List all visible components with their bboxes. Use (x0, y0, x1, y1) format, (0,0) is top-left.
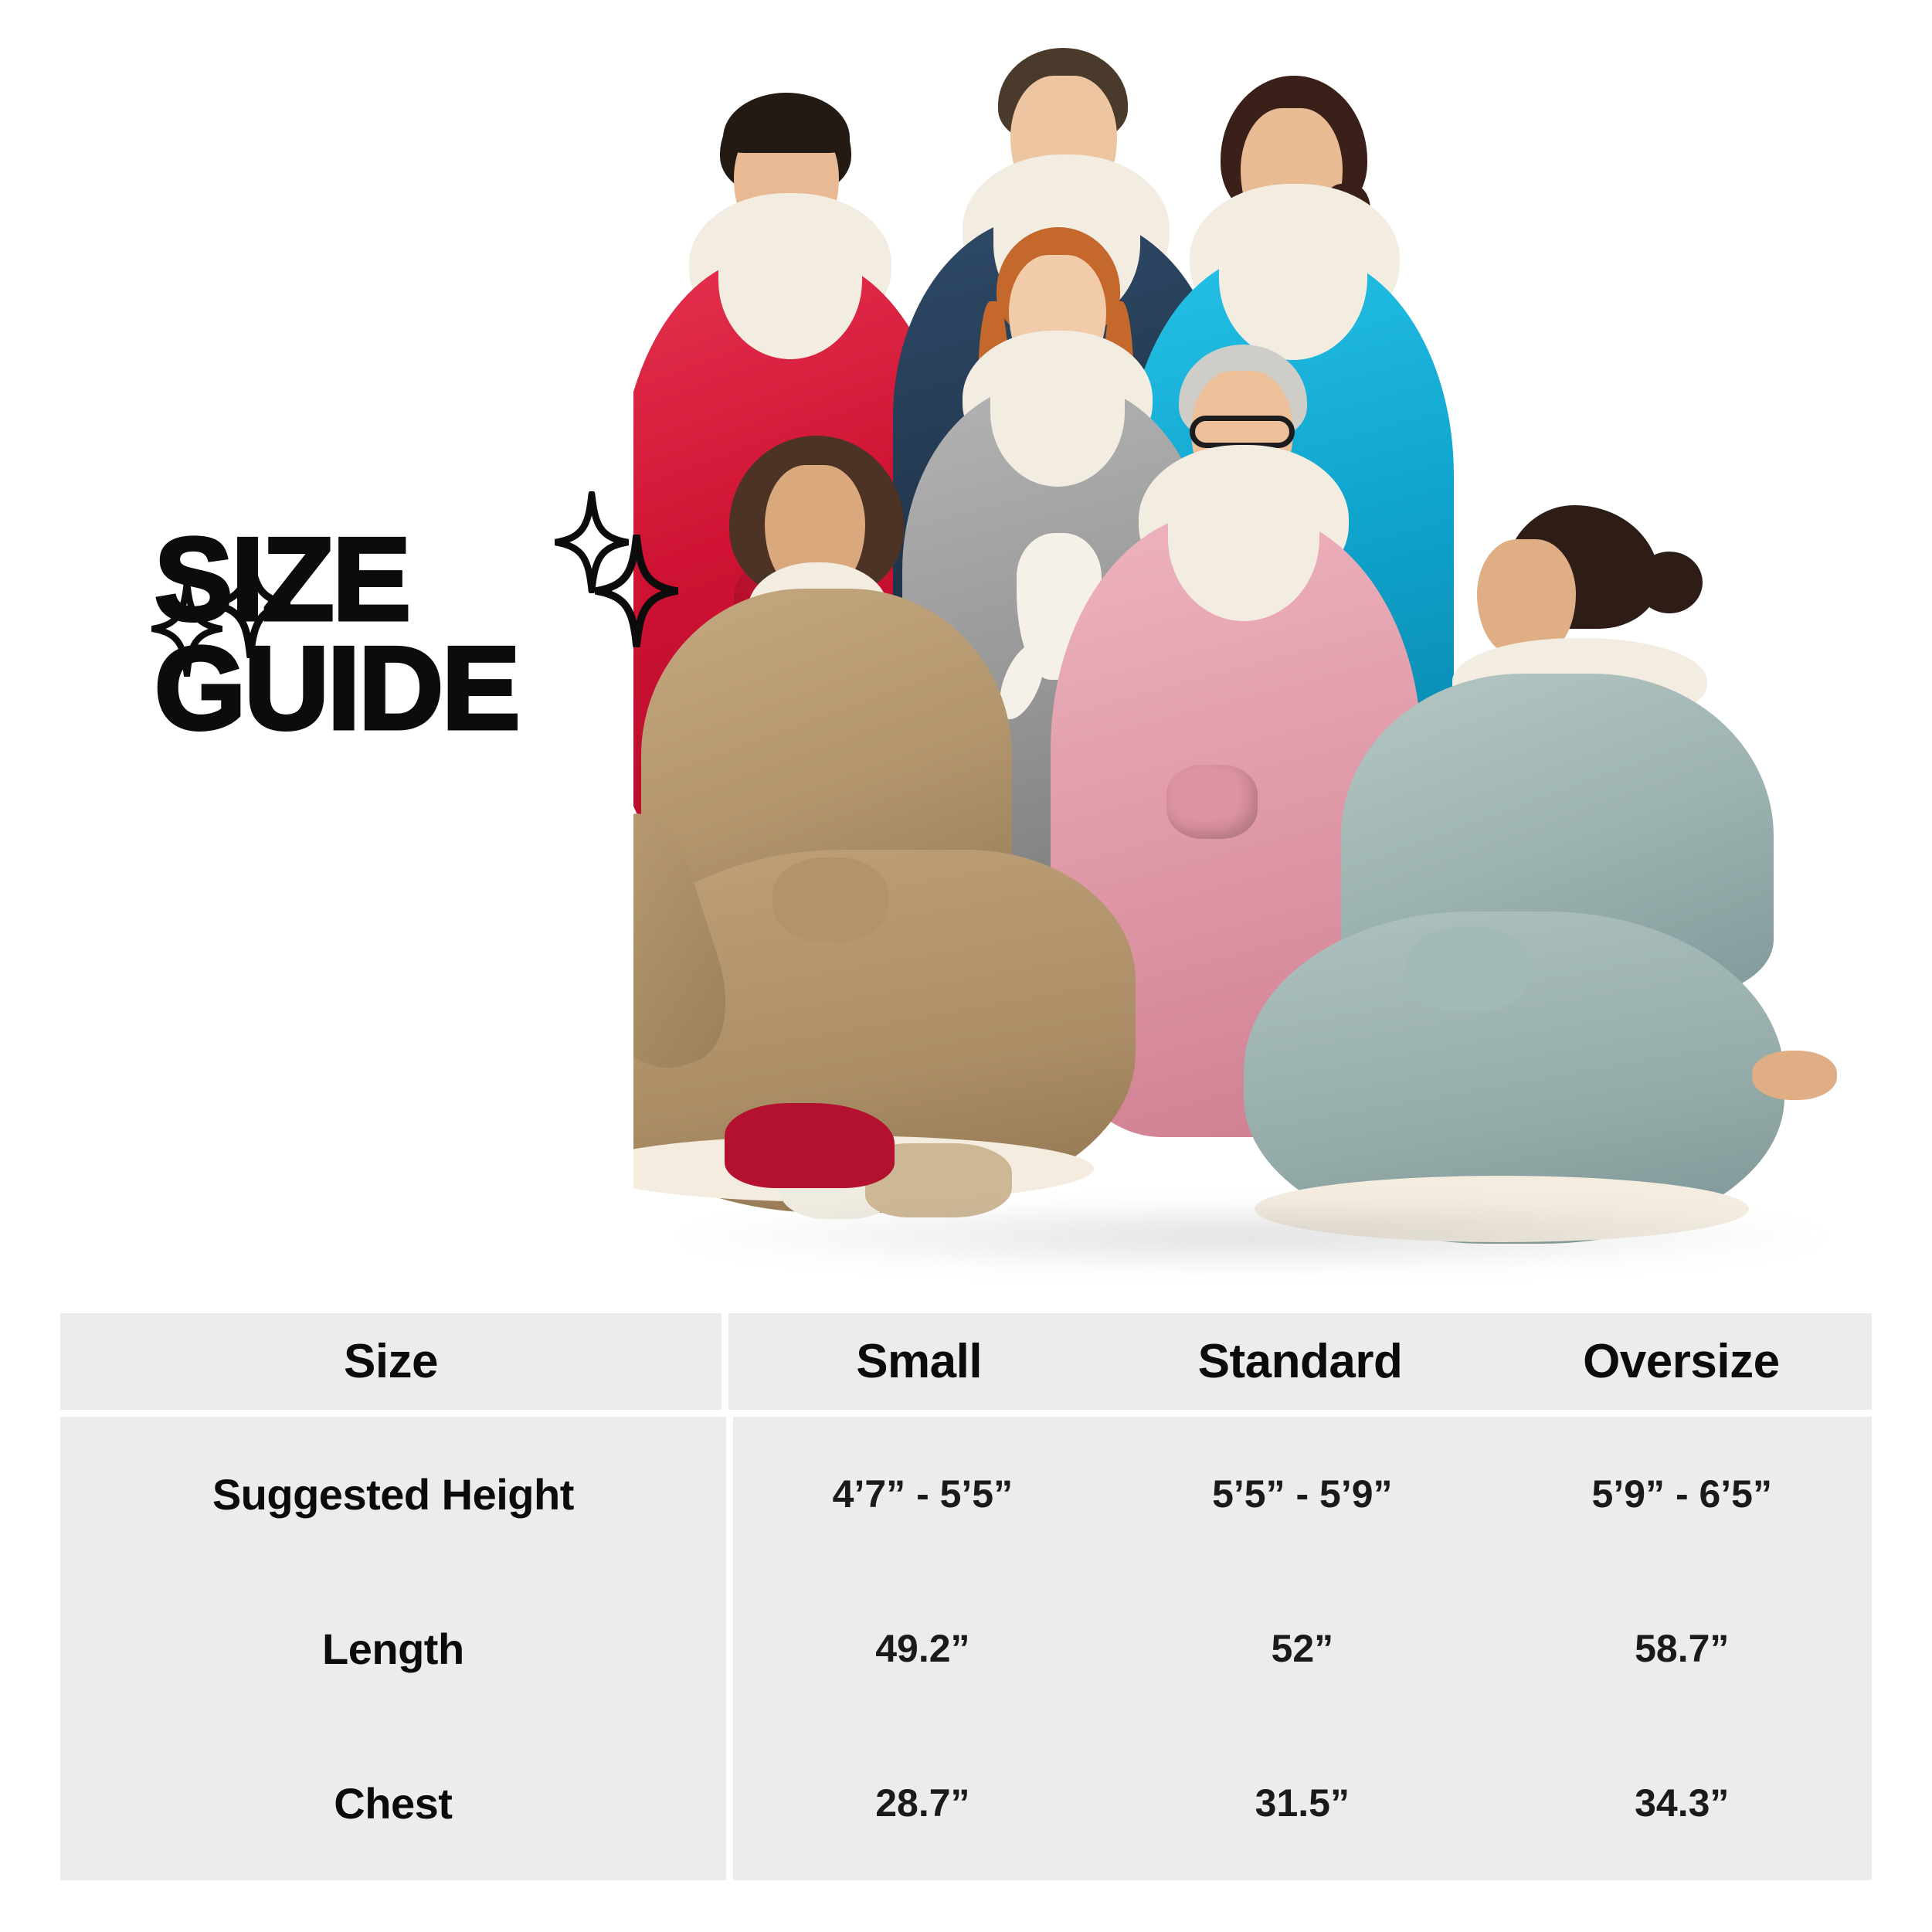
red-fabric-fold (725, 1103, 895, 1188)
cell-value: 28.7” (875, 1781, 969, 1825)
person-woman-sage (1174, 494, 1854, 1275)
cell-standard: 31.5” (1112, 1726, 1492, 1880)
row-label-suggested-height: Suggested Height (60, 1417, 733, 1571)
cell-value: 49.2” (875, 1626, 969, 1671)
size-guide-page: SIZE GUIDE Size Small Standard (0, 0, 1932, 1932)
header-label-oversize: Oversize (1583, 1334, 1780, 1389)
cell-value: 4’7” - 5’5” (833, 1472, 1013, 1516)
cell-standard: 5’5” - 5’9” (1112, 1417, 1492, 1571)
header-cell-size: Size (60, 1313, 728, 1410)
table-header-row: Size Small Standard Oversize (60, 1313, 1872, 1410)
hair-fringe (723, 93, 850, 153)
hair-bun (1636, 552, 1703, 613)
row-values-suggested-height: 4’7” - 5’5” 5’5” - 5’9” 5’9” - 6’5” (733, 1417, 1872, 1571)
group-photo (633, 31, 1900, 1313)
table-row: Chest 28.7” 31.5” 34.3” (60, 1726, 1872, 1880)
cell-value: 52” (1272, 1626, 1334, 1671)
row-label-text: Length (322, 1624, 464, 1674)
header-label-small: Small (856, 1334, 982, 1389)
sparkle-icon (595, 535, 678, 647)
row-label-chest: Chest (60, 1726, 733, 1880)
row-label-length: Length (60, 1571, 733, 1726)
cell-oversize: 34.3” (1492, 1726, 1872, 1880)
cell-value: 5’5” - 5’9” (1212, 1472, 1392, 1516)
row-label-text: Chest (334, 1778, 452, 1828)
cell-oversize: 58.7” (1492, 1571, 1872, 1726)
header-cell-small: Small (728, 1334, 1109, 1389)
cell-oversize: 5’9” - 6’5” (1492, 1417, 1872, 1571)
glasses (1190, 416, 1295, 448)
size-chart-table: Size Small Standard Oversize Suggested H… (60, 1313, 1872, 1880)
cell-standard: 52” (1112, 1571, 1492, 1726)
row-values-chest: 28.7” 31.5” 34.3” (733, 1726, 1872, 1880)
cell-small: 4’7” - 5’5” (733, 1417, 1112, 1571)
header-label-standard: Standard (1198, 1334, 1403, 1389)
table-row: Length 49.2” 52” 58.7” (60, 1571, 1872, 1726)
header-cell-oversize: Oversize (1491, 1334, 1872, 1389)
cell-small: 28.7” (733, 1726, 1112, 1880)
table-row: Suggested Height 4’7” - 5’5” 5’5” - 5’9”… (60, 1417, 1872, 1571)
floor-shadow (680, 1205, 1823, 1275)
cell-value: 58.7” (1635, 1626, 1729, 1671)
header-cell-values: Small Standard Oversize (728, 1313, 1872, 1410)
sparkle-icon (210, 550, 290, 658)
cell-small: 49.2” (733, 1571, 1112, 1726)
cell-value: 5’9” - 6’5” (1592, 1472, 1772, 1516)
cell-value: 34.3” (1635, 1781, 1729, 1825)
row-values-length: 49.2” 52” 58.7” (733, 1571, 1872, 1726)
table-body: Suggested Height 4’7” - 5’5” 5’5” - 5’9”… (60, 1417, 1872, 1880)
hand-right (1752, 1051, 1837, 1100)
header-label-size: Size (344, 1334, 438, 1389)
belt-knot (1406, 927, 1530, 1012)
header-cell-standard: Standard (1109, 1334, 1490, 1389)
belt-knot (772, 857, 888, 942)
row-label-text: Suggested Height (212, 1469, 574, 1519)
cell-value: 31.5” (1255, 1781, 1350, 1825)
